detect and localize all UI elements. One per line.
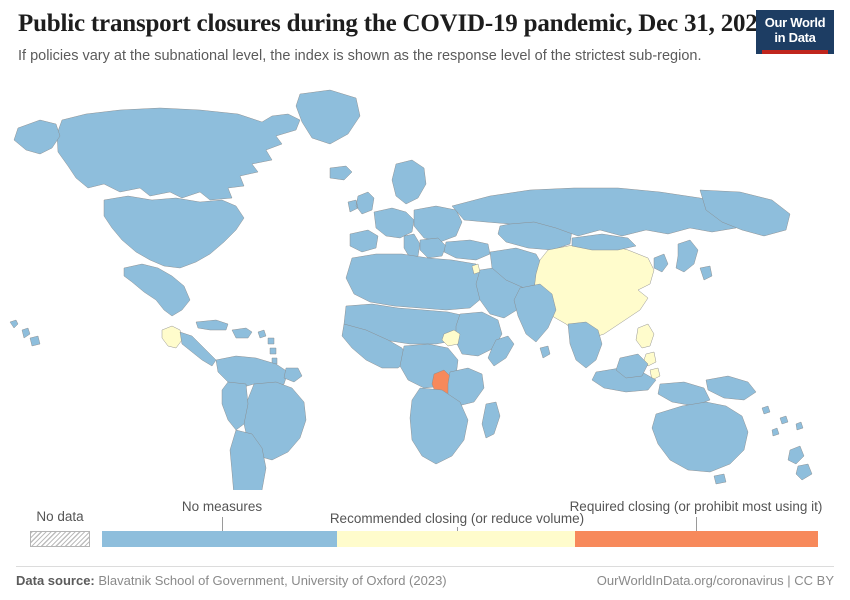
country-hispaniola[interactable]: [232, 328, 252, 338]
country-madagascar[interactable]: [482, 402, 500, 438]
data-source-prefix: Data source:: [16, 573, 95, 588]
country-korea-japan[interactable]: [654, 240, 712, 280]
country-scandinavia[interactable]: [392, 160, 426, 204]
country-guatemala[interactable]: [162, 326, 182, 348]
credit-link[interactable]: OurWorldInData.org/coronavirus | CC BY: [597, 573, 834, 588]
country-canada[interactable]: [57, 108, 300, 200]
chart-header: Public transport closures during the COV…: [18, 10, 748, 65]
country-new-guinea[interactable]: [706, 376, 756, 400]
country-guianas[interactable]: [284, 368, 302, 382]
world-map-svg: [0, 72, 850, 490]
country-eastern-europe[interactable]: [414, 206, 462, 242]
chart-footer: Data source: Blavatnik School of Governm…: [0, 566, 850, 590]
owid-map-chart: Public transport closures during the COV…: [0, 0, 850, 600]
country-india[interactable]: [514, 284, 556, 342]
country-alaska[interactable]: [14, 120, 60, 154]
data-source: Data source: Blavatnik School of Governm…: [16, 573, 447, 588]
country-tasmania[interactable]: [714, 474, 726, 484]
footer-divider: [16, 566, 834, 567]
country-iceland[interactable]: [330, 166, 352, 180]
country-china[interactable]: [534, 244, 654, 338]
legend-swatch-no-measures[interactable]: [102, 531, 337, 547]
country-greenland[interactable]: [296, 90, 360, 144]
legend-no-data-swatch[interactable]: [30, 531, 90, 547]
country-mongolia[interactable]: [572, 234, 636, 250]
owid-logo-rule: [762, 50, 828, 54]
country-turkey[interactable]: [444, 240, 490, 260]
country-iberia[interactable]: [350, 230, 378, 252]
legend-tick-recommended-closing: [457, 527, 458, 531]
legend-tick-required-closing: [696, 517, 697, 531]
country-hawaii[interactable]: [10, 320, 40, 346]
map-countries: [10, 90, 812, 490]
country-russia[interactable]: [452, 188, 744, 236]
owid-logo-line2: in Data: [762, 31, 828, 46]
owid-logo-line1: Our World: [762, 16, 828, 31]
legend-label-no-measures: No measures: [182, 499, 262, 514]
country-morocco-algeria-libya-egypt[interactable]: [346, 254, 484, 310]
map-legend: No data No measures Recommended closing …: [0, 495, 850, 557]
country-australia[interactable]: [652, 402, 748, 472]
world-map[interactable]: [0, 72, 850, 490]
country-pacific-islands[interactable]: [762, 406, 803, 436]
country-italy[interactable]: [404, 234, 420, 258]
legend-label-recommended-closing: Recommended closing (or reduce volume): [330, 511, 584, 526]
country-western-europe[interactable]: [374, 208, 414, 238]
country-caribbean-islands[interactable]: [258, 330, 277, 364]
legend-no-data-label: No data: [30, 509, 90, 524]
data-source-text: Blavatnik School of Government, Universi…: [98, 573, 446, 588]
legend-swatch-recommended-closing[interactable]: [337, 531, 575, 547]
country-mexico[interactable]: [124, 264, 190, 316]
country-central-america[interactable]: [180, 332, 216, 366]
country-new-zealand[interactable]: [788, 446, 812, 480]
country-peru-bolivia[interactable]: [222, 382, 248, 430]
owid-logo[interactable]: Our World in Data: [756, 10, 834, 54]
country-uk-ireland[interactable]: [348, 192, 374, 214]
legend-swatch-required-closing[interactable]: [575, 531, 818, 547]
chart-subtitle: If policies vary at the subnational leve…: [18, 47, 748, 65]
page-title: Public transport closures during the COV…: [18, 10, 748, 39]
legend-label-required-closing: Required closing (or prohibit most using…: [570, 499, 823, 514]
country-united-states[interactable]: [104, 196, 244, 268]
country-sri-lanka[interactable]: [540, 346, 550, 358]
country-cuba[interactable]: [196, 320, 228, 330]
legend-tick-no-measures: [222, 517, 223, 531]
